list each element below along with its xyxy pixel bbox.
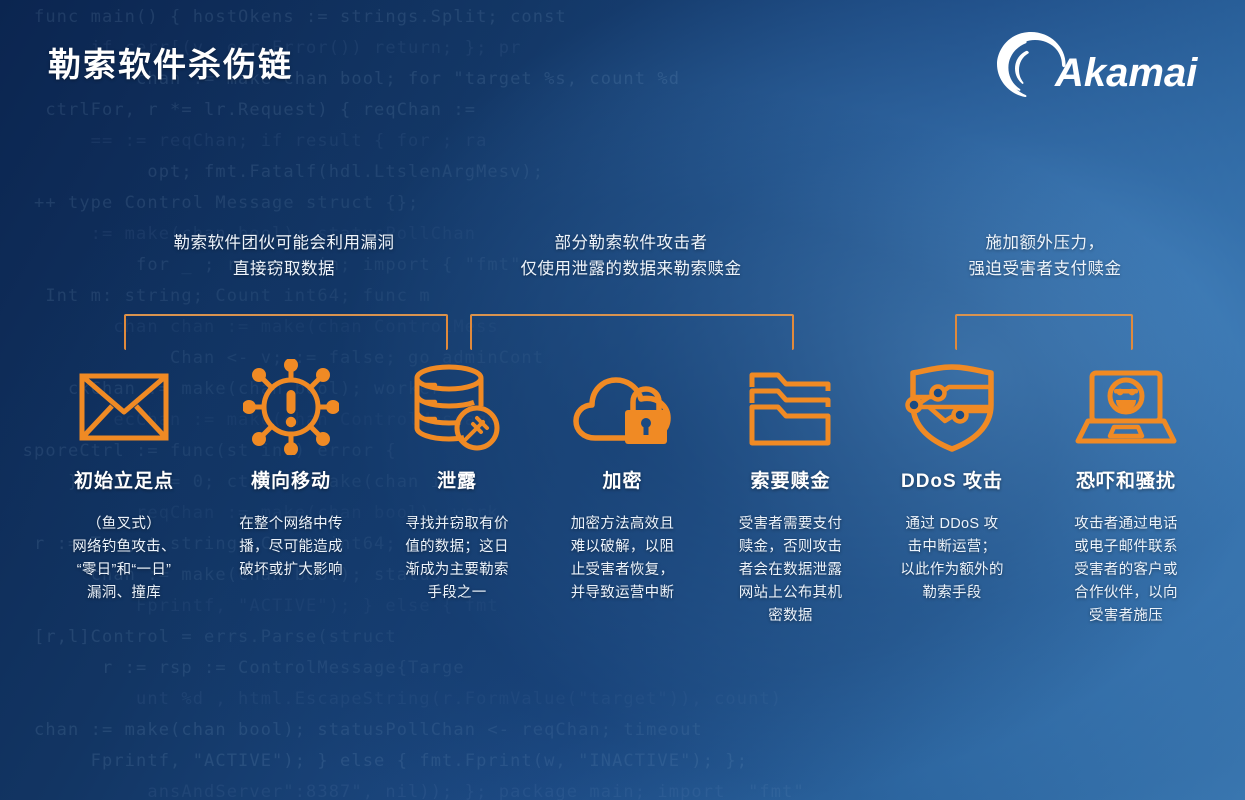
stage-encryption[interactable]: 加密 加密方法高效且 难以破解，以阻 止受害者恢复， 并导致运营中断	[540, 358, 705, 605]
page-title: 勒索软件杀伤链	[48, 38, 293, 86]
bracket-2	[470, 314, 794, 350]
annotation-3-line-2: 强迫受害者支付赎金	[910, 256, 1180, 282]
stage-initial-foothold[interactable]: 初始立足点 （鱼叉式） 网络钓鱼攻击、 “零日”和“一日” 漏洞、撞库	[44, 358, 204, 605]
stage-title: 索要赎金	[708, 466, 873, 493]
cloud-lock-icon	[540, 358, 705, 456]
stage-desc: （鱼叉式） 网络钓鱼攻击、 “零日”和“一日” 漏洞、撞库	[44, 513, 204, 605]
stage-lateral-movement[interactable]: 横向移动 在整个网络中传 播，尽可能造成 破坏或扩大影响	[206, 358, 376, 582]
stage-ddos-attack[interactable]: DDoS 攻击 通过 DDoS 攻 击中断运营； 以此作为额外的 勒索手段	[876, 358, 1028, 605]
stage-ransom-demand[interactable]: 索要赎金 受害者需要支付 赎金，否则攻击 者会在数据泄露 网站上公布其机 密数据	[708, 358, 873, 628]
database-syringe-icon	[382, 358, 532, 456]
laptop-face-icon	[1036, 358, 1216, 456]
annotation-2-line-1: 部分勒索软件攻击者	[470, 230, 792, 256]
infographic-canvas: func main() { hostOkens := strings.Split…	[0, 0, 1245, 800]
annotation-exfiltration-path: 勒索软件团伙可能会利用漏洞 直接窃取数据	[84, 230, 484, 282]
stage-desc: 通过 DDoS 攻 击中断运营； 以此作为额外的 勒索手段	[876, 513, 1028, 605]
annotation-extra-pressure: 施加额外压力， 强迫受害者支付赎金	[910, 230, 1180, 282]
stage-title: 横向移动	[206, 466, 376, 493]
stage-title: DDoS 攻击	[876, 466, 1028, 493]
stage-desc: 受害者需要支付 赎金，否则攻击 者会在数据泄露 网站上公布其机 密数据	[708, 513, 873, 628]
stage-exfiltration[interactable]: 泄露 寻找并窃取有价 值的数据；这日 渐成为主要勒索 手段之一	[382, 358, 532, 605]
annotation-leak-extortion: 部分勒索软件攻击者 仅使用泄露的数据来勒索赎金	[470, 230, 792, 282]
annotation-2-line-2: 仅使用泄露的数据来勒索赎金	[470, 256, 792, 282]
annotation-1-line-1: 勒索软件团伙可能会利用漏洞	[84, 230, 484, 256]
stage-title: 泄露	[382, 466, 532, 493]
shield-circuit-icon	[876, 358, 1028, 456]
stage-intimidation-harassment[interactable]: 恐吓和骚扰 攻击者通过电话 或电子邮件联系 受害者的客户或 合作伙伴，以向 受害…	[1036, 358, 1216, 628]
stage-desc: 攻击者通过电话 或电子邮件联系 受害者的客户或 合作伙伴，以向 受害者施压	[1036, 513, 1216, 628]
stage-desc: 在整个网络中传 播，尽可能造成 破坏或扩大影响	[206, 513, 376, 582]
annotation-1-line-2: 直接窃取数据	[84, 256, 484, 282]
bracket-1	[124, 314, 448, 350]
akamai-logo: Akamai	[995, 28, 1205, 100]
envelope-icon	[44, 358, 204, 456]
stage-desc: 加密方法高效且 难以破解，以阻 止受害者恢复， 并导致运营中断	[540, 513, 705, 605]
stage-title: 初始立足点	[44, 466, 204, 493]
virus-node-icon	[206, 358, 376, 456]
stage-title: 加密	[540, 466, 705, 493]
stage-desc: 寻找并窃取有价 值的数据；这日 渐成为主要勒索 手段之一	[382, 513, 532, 605]
logo-wordmark: Akamai	[1054, 51, 1198, 95]
folders-icon	[708, 358, 873, 456]
annotation-3-line-1: 施加额外压力，	[910, 230, 1180, 256]
stage-title: 恐吓和骚扰	[1036, 466, 1216, 493]
bracket-3	[955, 314, 1133, 350]
